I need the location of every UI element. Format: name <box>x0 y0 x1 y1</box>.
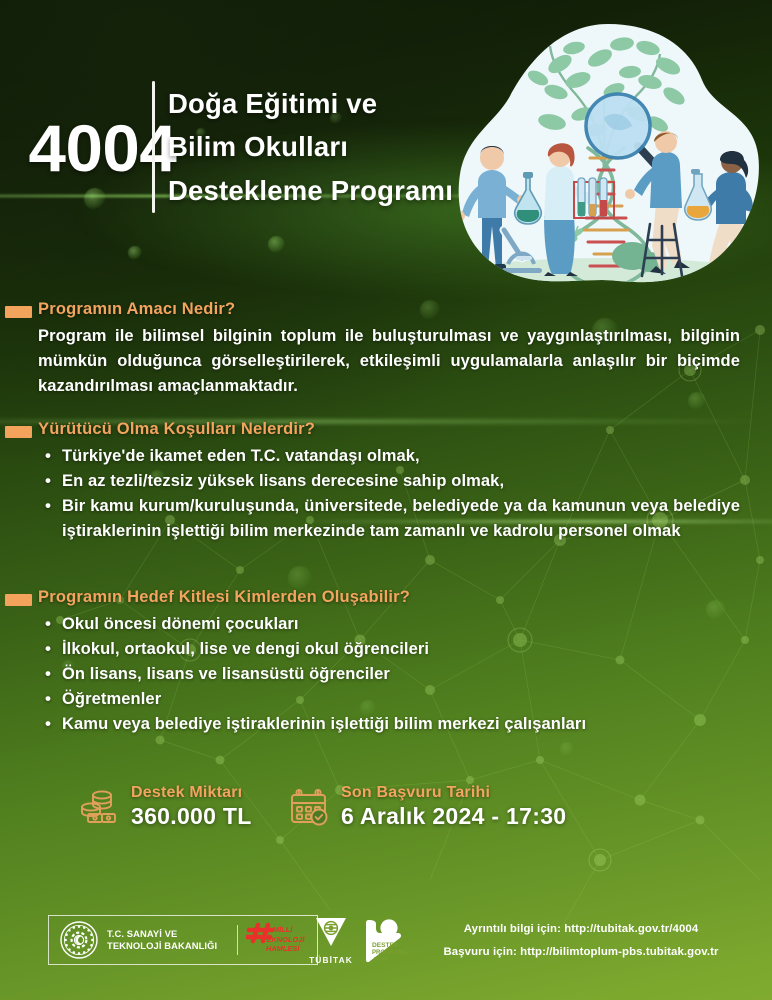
application-link[interactable]: Başvuru için: http://bilimtoplum-pbs.tub… <box>416 941 746 964</box>
svg-text:HAMLESİ: HAMLESİ <box>266 944 300 953</box>
list-item: Öğretmenler <box>45 687 740 712</box>
section-marker <box>5 426 32 438</box>
list-item: Ön lisans, lisans ve lisansüstü öğrencil… <box>45 662 740 687</box>
section-amac: Programın Amacı Nedir? Program ile bilim… <box>0 300 772 322</box>
calendar-check-icon <box>288 786 330 828</box>
destek-programlari-logo-icon: DESTEK PROGRAMLARI BİDEB <box>358 916 408 966</box>
poster-header: 4004 Doğa Eğitimi ve Bilim Okulları Dest… <box>0 0 772 290</box>
tubitak-logo-icon <box>314 916 348 948</box>
hashtag-icon: MİLLİ TEKNOLOJİ HAMLESİ <box>246 922 310 958</box>
destek-programlari-logo: DESTEK PROGRAMLARI BİDEB <box>358 916 410 971</box>
title-line-3: Destekleme Programı <box>168 169 458 212</box>
info-text-tarih: Son Başvuru Tarihi 6 Aralık 2024 - 17:30 <box>341 784 566 831</box>
info-value: 6 Aralık 2024 - 17:30 <box>341 803 566 831</box>
svg-text:MİLLİ: MİLLİ <box>273 925 293 934</box>
poster-footer: T.C. SANAYİ VE TEKNOLOJİ BAKANLIĞI MİLLİ… <box>0 900 772 1000</box>
svg-text:DESTEK: DESTEK <box>372 942 399 949</box>
section-title-yurutucu: Yürütücü Olma Koşulları Nelerdir? <box>38 420 315 439</box>
info-item-son-basvuru: Son Başvuru Tarihi 6 Aralık 2024 - 17:30 <box>288 784 566 831</box>
info-label: Destek Miktarı <box>131 784 252 802</box>
poster-root: 4004 Doğa Eğitimi ve Bilim Okulları Dest… <box>0 0 772 1000</box>
svg-text:TEKNOLOJİ: TEKNOLOJİ <box>262 935 305 944</box>
title-divider <box>152 81 155 213</box>
science-illustration <box>452 18 764 286</box>
section-title-amac: Programın Amacı Nedir? <box>38 300 235 319</box>
tubitak-label: TÜBİTAK <box>302 955 360 965</box>
section-marker <box>5 306 32 318</box>
list-yurutucu: Türkiye'de ikamet eden T.C. vatandaşı ol… <box>45 444 740 544</box>
list-item: En az tezli/tezsiz yüksek lisans dereces… <box>45 469 740 494</box>
info-bar: Destek Miktarı 360.000 TL <box>0 778 772 842</box>
tubitak-logo: TÜBİTAK <box>302 916 360 965</box>
section-hedef-kitle: Programın Hedef Kitlesi Kimlerden Oluşab… <box>0 588 772 610</box>
footer-links: Ayrıntılı bilgi için: http://tubitak.gov… <box>416 918 746 965</box>
list-item: Okul öncesi dönemi çocukları <box>45 612 740 637</box>
ministry-line-2: TEKNOLOJİ BAKANLIĞI <box>107 940 217 952</box>
ministry-emblem-icon <box>60 921 98 959</box>
ministry-logo: T.C. SANAYİ VE TEKNOLOJİ BAKANLIĞI <box>48 915 238 965</box>
list-hedef-kitle: Okul öncesi dönemi çocukları İlkokul, or… <box>45 612 740 737</box>
section-paragraph-amac: Program ile bilimsel bilginin toplum ile… <box>38 324 740 399</box>
info-value: 360.000 TL <box>131 803 252 831</box>
list-item: Bir kamu kurum/kuruluşunda, üniversitede… <box>45 494 740 544</box>
list-item: İlkokul, ortaokul, lise ve dengi okul öğ… <box>45 637 740 662</box>
title-line-1: Doğa Eğitimi ve <box>168 82 458 125</box>
title-line-2: Bilim Okulları <box>168 125 458 168</box>
coins-icon <box>78 786 120 828</box>
svg-text:BİDEB: BİDEB <box>374 956 388 961</box>
info-label: Son Başvuru Tarihi <box>341 784 566 802</box>
list-item: Kamu veya belediye iştiraklerinin işlett… <box>45 712 740 737</box>
info-text-destek: Destek Miktarı 360.000 TL <box>131 784 252 831</box>
section-title-hedef-kitle: Programın Hedef Kitlesi Kimlerden Oluşab… <box>38 588 410 607</box>
section-marker <box>5 594 32 606</box>
info-item-destek-miktari: Destek Miktarı 360.000 TL <box>78 784 252 831</box>
ministry-line-1: T.C. SANAYİ VE <box>107 928 217 940</box>
program-title: Doğa Eğitimi ve Bilim Okulları Desteklem… <box>168 82 458 212</box>
list-item: Türkiye'de ikamet eden T.C. vatandaşı ol… <box>45 444 740 469</box>
ministry-logo-text: T.C. SANAYİ VE TEKNOLOJİ BAKANLIĞI <box>107 928 217 953</box>
section-yurutucu: Yürütücü Olma Koşulları Nelerdir? Türkiy… <box>0 420 772 442</box>
info-link[interactable]: Ayrıntılı bilgi için: http://tubitak.gov… <box>416 918 746 941</box>
